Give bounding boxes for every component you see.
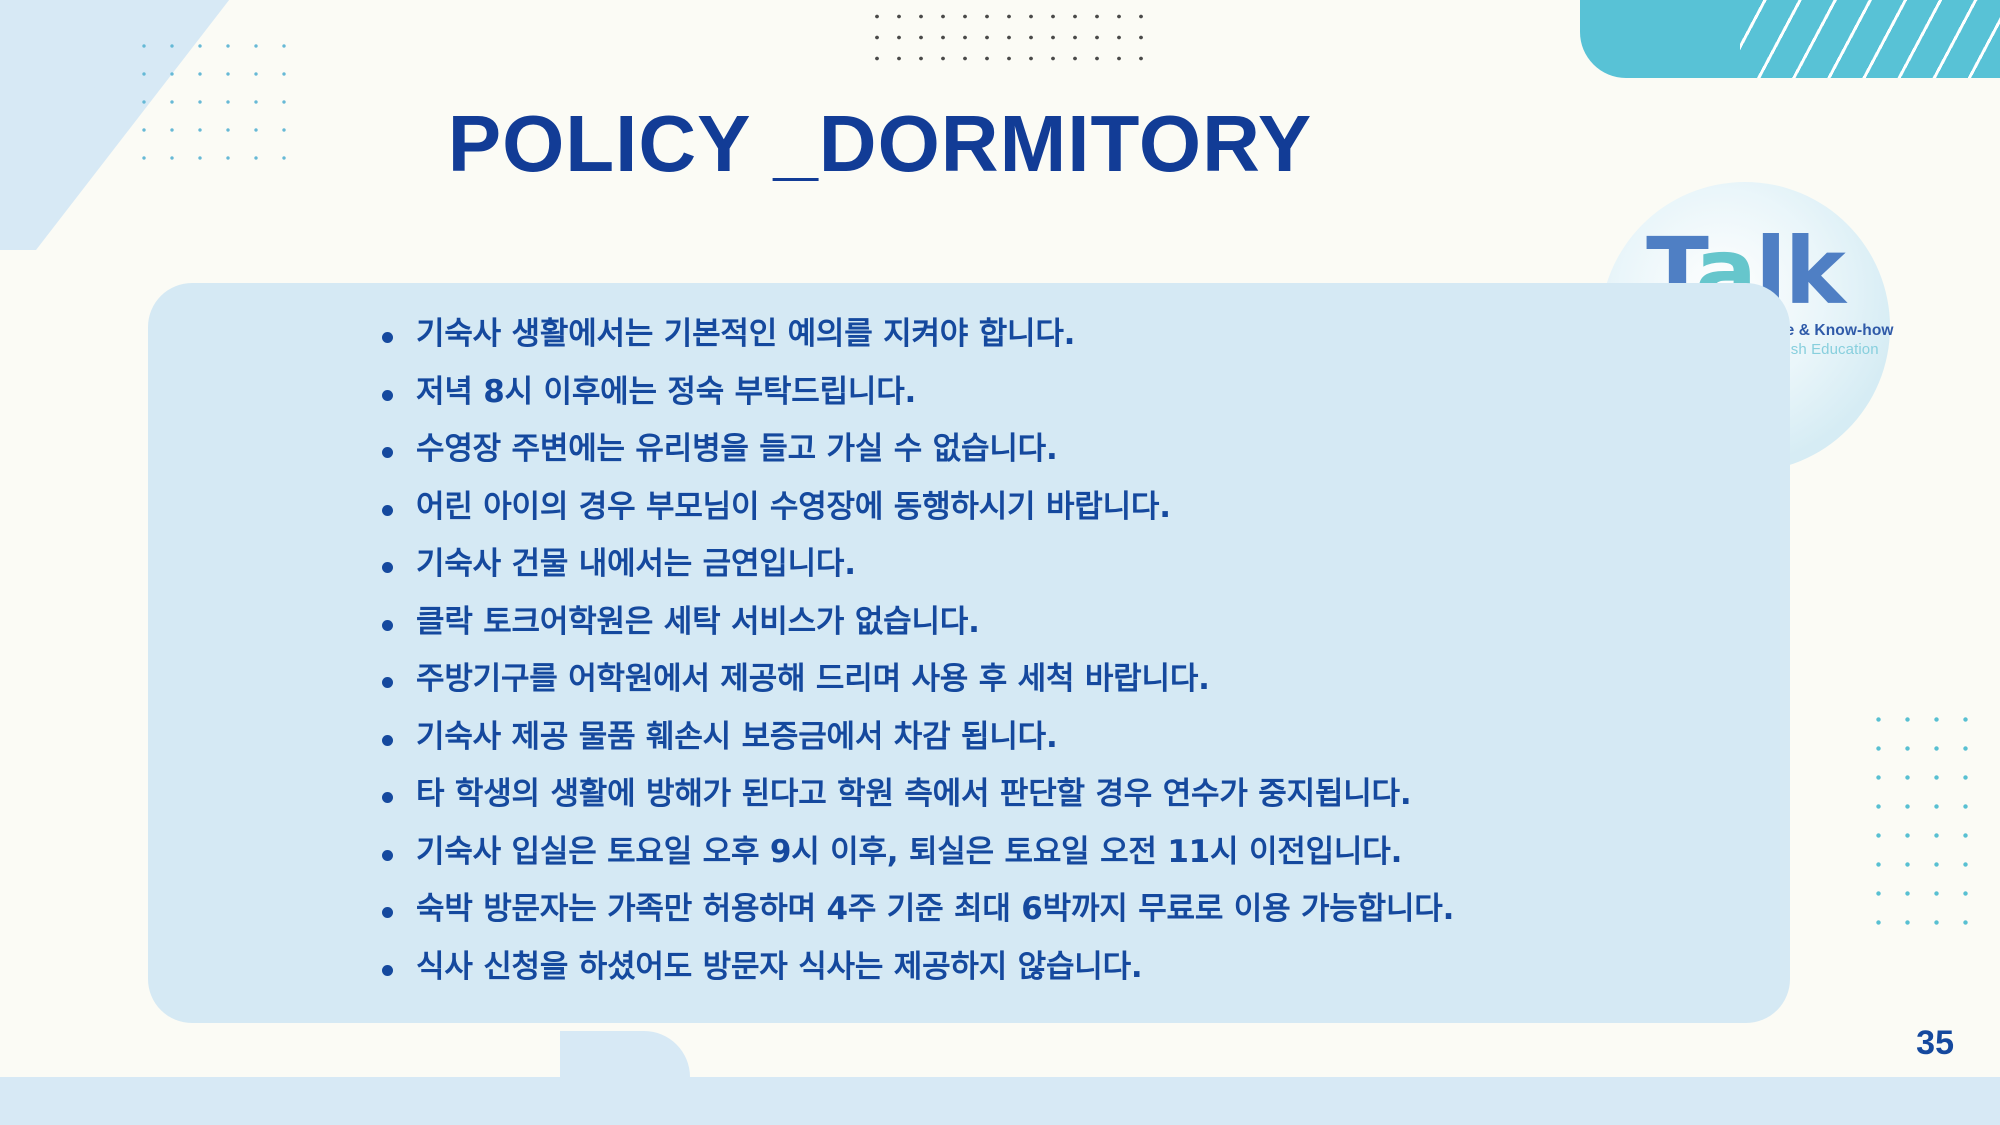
bottom-band bbox=[0, 1077, 2000, 1125]
content-card: 기숙사 생활에서는 기본적인 예의를 지켜야 합니다. 저녁 8시 이후에는 정… bbox=[148, 283, 1790, 1023]
list-item: 기숙사 입실은 토요일 오후 9시 이후, 퇴실은 토요일 오전 11시 이전입… bbox=[376, 837, 1756, 868]
list-item: 저녁 8시 이후에는 정숙 부탁드립니다. bbox=[376, 377, 1756, 408]
list-item: 식사 신청을 하셨어도 방문자 식사는 제공하지 않습니다. bbox=[376, 952, 1756, 983]
list-item: 수영장 주변에는 유리병을 들고 가실 수 없습니다. bbox=[376, 434, 1756, 465]
list-item: 주방기구를 어학원에서 제공해 드리며 사용 후 세척 바랍니다. bbox=[376, 664, 1756, 695]
list-item: 기숙사 생활에서는 기본적인 예의를 지켜야 합니다. bbox=[376, 319, 1756, 350]
list-item: 숙박 방문자는 가족만 허용하며 4주 기준 최대 6박까지 무료로 이용 가능… bbox=[376, 894, 1756, 925]
right-side-dot-grid-icon bbox=[1864, 705, 1982, 945]
list-item: 타 학생의 생활에 방해가 된다고 학원 측에서 판단할 경우 연수가 중지됩니… bbox=[376, 779, 1756, 810]
bottom-left-band-mask bbox=[0, 1031, 560, 1077]
list-item: 기숙사 제공 물품 훼손시 보증금에서 차감 됩니다. bbox=[376, 722, 1756, 753]
slide-canvas: POLICY _DORMITORY Talk Teaching Actual L… bbox=[0, 0, 2000, 1125]
list-item: 클락 토크어학원은 세탁 서비스가 없습니다. bbox=[376, 607, 1756, 638]
top-center-dot-grid-icon bbox=[866, 6, 1156, 68]
list-item: 기숙사 건물 내에서는 금연입니다. bbox=[376, 549, 1756, 580]
policy-bullet-list: 기숙사 생활에서는 기본적인 예의를 지켜야 합니다. 저녁 8시 이후에는 정… bbox=[376, 319, 1756, 1009]
top-right-teal-striped-shape bbox=[1580, 0, 2000, 78]
page-title: POLICY _DORMITORY bbox=[0, 98, 1760, 190]
page-number: 35 bbox=[1916, 1024, 1954, 1063]
list-item: 어린 아이의 경우 부모님이 수영장에 동행하시기 바랍니다. bbox=[376, 492, 1756, 523]
